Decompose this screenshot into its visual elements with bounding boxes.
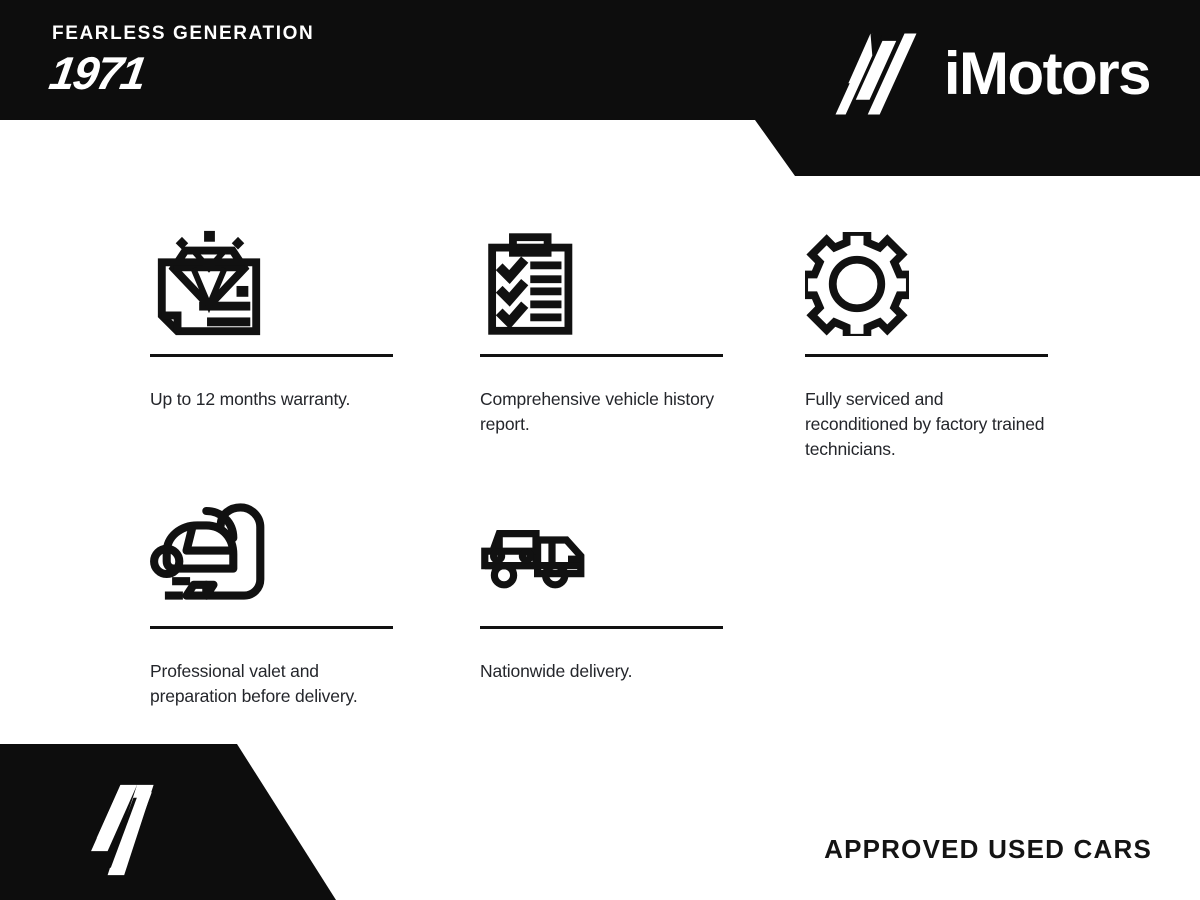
gear-cog-icon bbox=[805, 214, 1048, 354]
warranty-certificate-diamond-icon bbox=[150, 214, 393, 354]
feature-item-history-report: Comprehensive vehicle history report. bbox=[480, 214, 723, 437]
feature-caption: Comprehensive vehicle history report. bbox=[480, 387, 723, 437]
feature-divider bbox=[480, 626, 723, 629]
feature-divider bbox=[150, 626, 393, 629]
car-transporter-truck-icon bbox=[480, 486, 723, 626]
feature-caption: Up to 12 months warranty. bbox=[150, 387, 393, 412]
header-brand-lockup[interactable]: iMotors bbox=[830, 28, 1150, 120]
feature-caption: Professional valet and preparation befor… bbox=[150, 659, 393, 709]
footer-tagline: APPROVED USED CARS bbox=[824, 836, 1152, 862]
footer-band bbox=[0, 744, 360, 900]
imotors-chevron-logo-icon bbox=[830, 28, 922, 120]
feature-divider bbox=[150, 354, 393, 357]
fearless-generation-lockup: FEARLESS GENERATION 1971 bbox=[52, 24, 314, 98]
feature-caption: Fully serviced and reconditioned by fact… bbox=[805, 387, 1048, 462]
clipboard-checklist-icon bbox=[480, 214, 723, 354]
feature-caption: Nationwide delivery. bbox=[480, 659, 723, 684]
brand-name: iMotors bbox=[944, 44, 1150, 104]
header-tagline: FEARLESS GENERATION bbox=[52, 24, 314, 43]
poster-canvas: FEARLESS GENERATION 1971 iMotors bbox=[0, 0, 1200, 900]
feature-item-valet: Professional valet and preparation befor… bbox=[150, 486, 393, 709]
year-logo: 1971 bbox=[52, 52, 182, 98]
imotors-chevron-logo-icon bbox=[80, 778, 172, 882]
feature-item-delivery: Nationwide delivery. bbox=[480, 486, 723, 684]
vacuum-cleaner-icon bbox=[150, 486, 393, 626]
feature-item-warranty: Up to 12 months warranty. bbox=[150, 214, 393, 412]
feature-divider bbox=[480, 354, 723, 357]
year-logo-text: 1971 bbox=[46, 50, 148, 96]
feature-divider bbox=[805, 354, 1048, 357]
feature-item-serviced: Fully serviced and reconditioned by fact… bbox=[805, 214, 1048, 462]
